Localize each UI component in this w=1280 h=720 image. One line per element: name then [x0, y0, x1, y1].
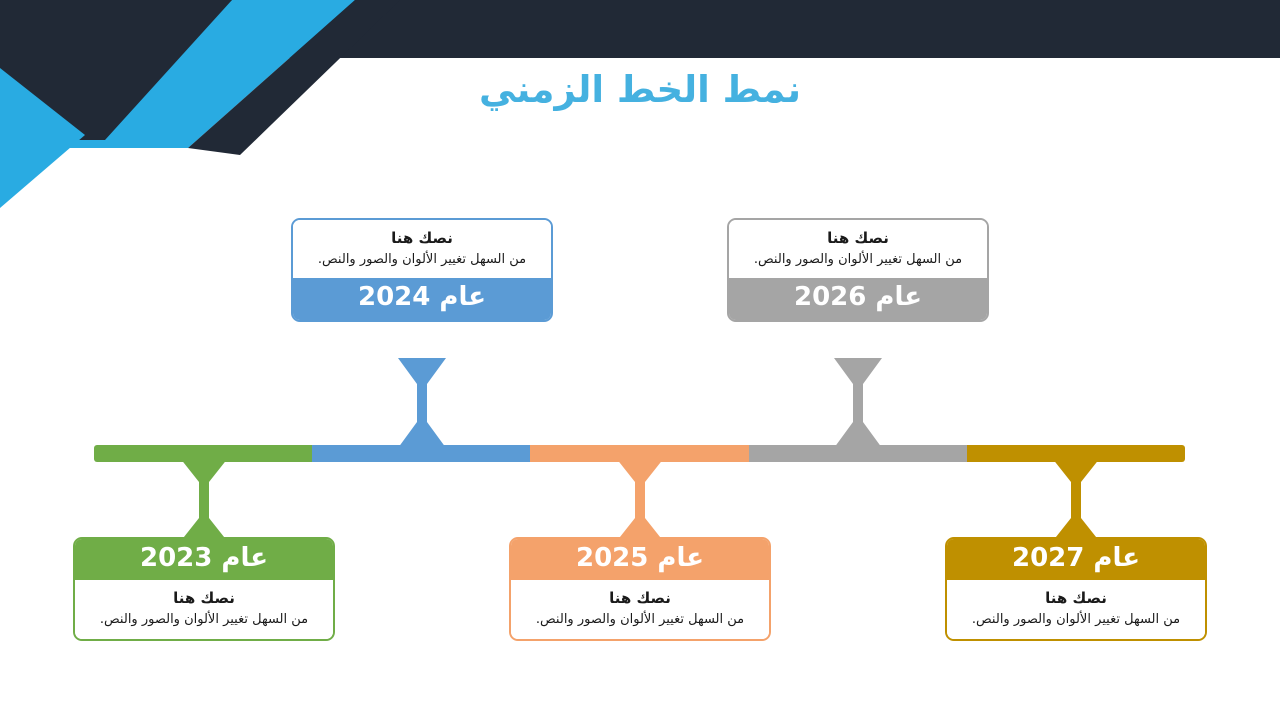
- page-title: نمط الخط الزمني: [0, 68, 1280, 111]
- milestone-year-2024: عام 2024: [293, 278, 551, 319]
- milestone-heading-2023: نصك هنا: [89, 589, 319, 608]
- milestone-year-2023: عام 2023: [75, 539, 333, 580]
- milestone-year-2025: عام 2025: [511, 539, 769, 580]
- milestone-text-2027: من السهل تغيير الألوان والصور والنص.: [961, 611, 1191, 629]
- milestone-heading-2024: نصك هنا: [307, 229, 537, 248]
- milestone-body-2025: نصك هنا من السهل تغيير الألوان والصور وا…: [511, 580, 769, 638]
- geometric-corner-decoration: [0, 0, 1280, 230]
- milestone-year-2026: عام 2026: [729, 278, 987, 319]
- milestone-body-2023: نصك هنا من السهل تغيير الألوان والصور وا…: [75, 580, 333, 638]
- milestone-card-2027[interactable]: عام 2027 نصك هنا من السهل تغيير الألوان …: [945, 537, 1207, 641]
- milestone-heading-2026: نصك هنا: [743, 229, 973, 248]
- milestone-text-2023: من السهل تغيير الألوان والصور والنص.: [89, 611, 319, 629]
- milestone-text-2025: من السهل تغيير الألوان والصور والنص.: [525, 611, 755, 629]
- milestone-card-2025[interactable]: عام 2025 نصك هنا من السهل تغيير الألوان …: [509, 537, 771, 641]
- milestone-card-2023[interactable]: عام 2023 نصك هنا من السهل تغيير الألوان …: [73, 537, 335, 641]
- milestone-text-2024: من السهل تغيير الألوان والصور والنص.: [307, 251, 537, 269]
- milestone-heading-2027: نصك هنا: [961, 589, 1191, 608]
- connector-stem-2023: [180, 458, 228, 542]
- milestone-card-2026[interactable]: نصك هنا من السهل تغيير الألوان والصور وا…: [727, 218, 989, 322]
- milestone-text-2026: من السهل تغيير الألوان والصور والنص.: [743, 251, 973, 269]
- milestone-heading-2025: نصك هنا: [525, 589, 755, 608]
- milestone-body-2024: نصك هنا من السهل تغيير الألوان والصور وا…: [293, 220, 551, 278]
- connector-stem-2024: [398, 358, 446, 448]
- milestone-year-2027: عام 2027: [947, 539, 1205, 580]
- milestone-card-2024[interactable]: نصك هنا من السهل تغيير الألوان والصور وا…: [291, 218, 553, 322]
- connector-stem-2026: [834, 358, 882, 448]
- milestone-body-2026: نصك هنا من السهل تغيير الألوان والصور وا…: [729, 220, 987, 278]
- connector-stem-2027: [1052, 458, 1100, 542]
- connector-stem-2025: [616, 458, 664, 542]
- milestone-body-2027: نصك هنا من السهل تغيير الألوان والصور وا…: [947, 580, 1205, 638]
